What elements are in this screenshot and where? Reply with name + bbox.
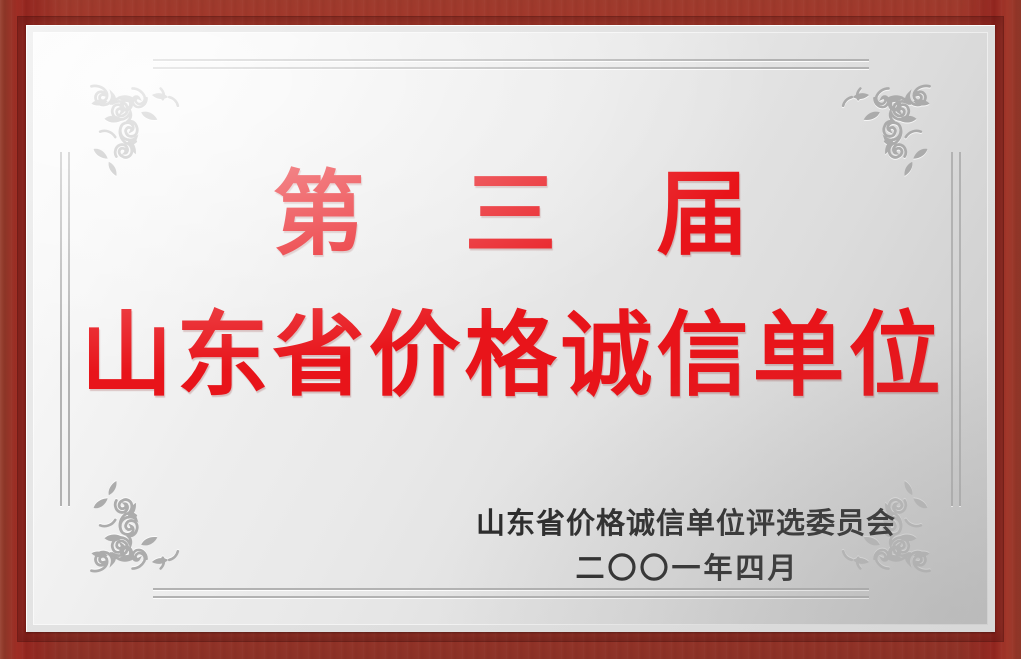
engraved-plate: 第 三 届 山东省价格诚信单位 山东省价格诚信单位评选委员会 二〇〇一年四月 <box>33 32 988 625</box>
inscription-layer: 第 三 届 山东省价格诚信单位 山东省价格诚信单位评选委员会 二〇〇一年四月 <box>33 32 988 625</box>
issuing-organization: 山东省价格诚信单位评选委员会 <box>476 500 896 542</box>
issue-date: 二〇〇一年四月 <box>476 545 896 587</box>
award-title-line-2: 山东省价格诚信单位 <box>33 307 988 404</box>
award-title-line-1: 第 三 届 <box>33 168 988 260</box>
award-plaque: 第 三 届 山东省价格诚信单位 山东省价格诚信单位评选委员会 二〇〇一年四月 <box>0 0 1021 659</box>
